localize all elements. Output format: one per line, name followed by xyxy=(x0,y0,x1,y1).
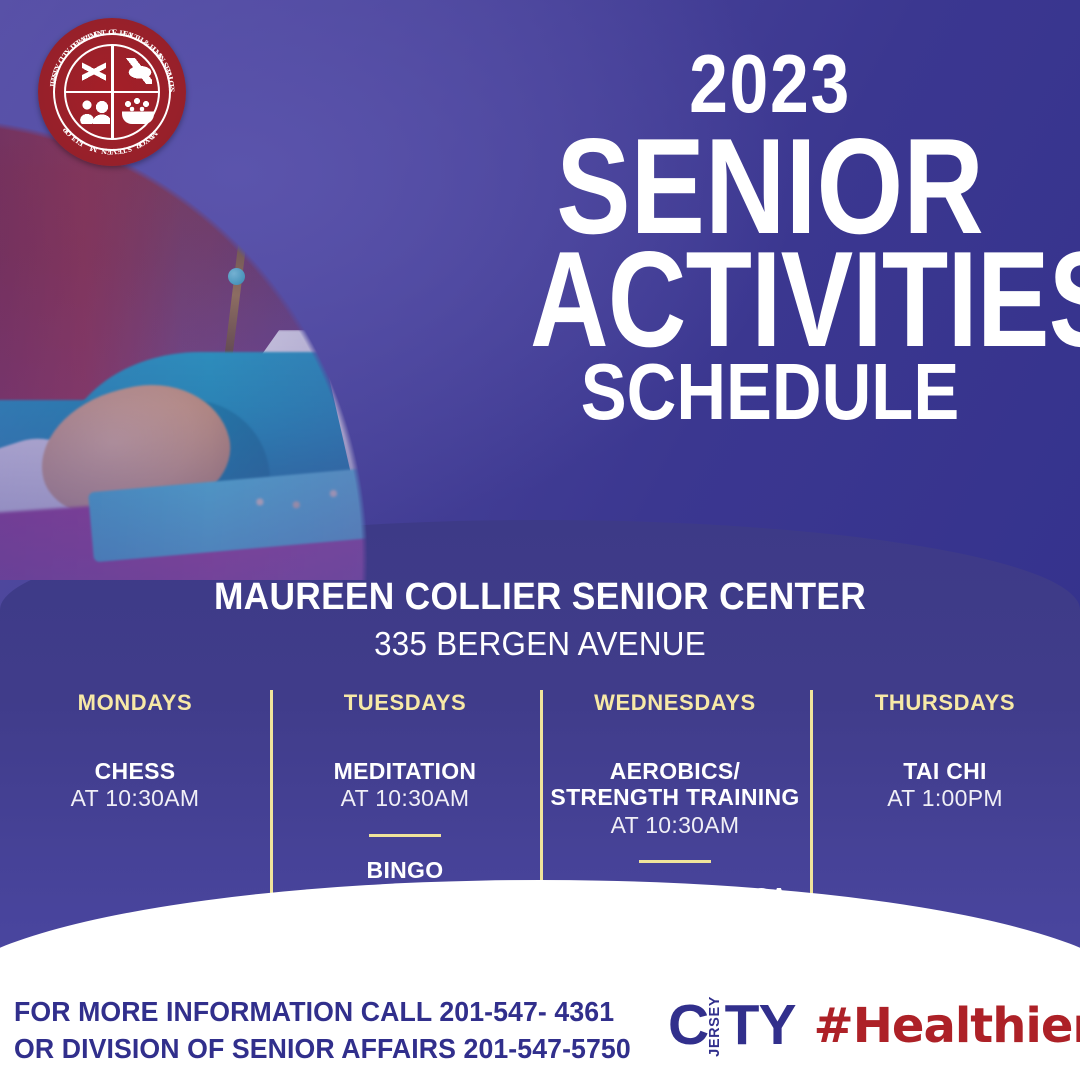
healthier-jc-hashtag: #HealthierJC xyxy=(814,1002,1080,1050)
activity-time: AT 10:30AM xyxy=(550,812,800,840)
venue-block: MAUREEN COLLIER SENIOR CENTER 335 BERGEN… xyxy=(0,576,1080,663)
activity-entry: TAI CHIAT 1:00PM xyxy=(820,758,1070,813)
dhhs-seal-logo: JERSEY CITY DEPARTMENT OF HEALTH & HUMAN… xyxy=(38,18,186,166)
footer-logo-row: C JERSEY TY #HealthierJC xyxy=(668,995,1068,1057)
venue-name: MAUREEN COLLIER SENIOR CENTER xyxy=(38,576,1042,619)
schedule-day-header: WEDNESDAYS xyxy=(550,690,800,716)
seal-outer-text-bottom: MAYOR STEVEN M. FULOP xyxy=(38,18,186,166)
activity-entry: AEROBICS/ STRENGTH TRAININGAT 10:30AM xyxy=(550,758,800,839)
venue-address: 335 BERGEN AVENUE xyxy=(27,625,1053,663)
schedule-day-header: THURSDAYS xyxy=(820,690,1070,716)
footer-contact-info: FOR MORE INFORMATION CALL 201-547- 4361 … xyxy=(14,994,635,1067)
activity-name: TAI CHI xyxy=(820,758,1070,784)
activity-name: MEDITATION xyxy=(280,758,530,784)
flyer-canvas: JERSEY CITY DEPARTMENT OF HEALTH & HUMAN… xyxy=(0,0,1080,1080)
activity-separator xyxy=(639,860,711,863)
activity-separator xyxy=(369,834,441,837)
activity-name: AEROBICS/ STRENGTH TRAINING xyxy=(550,758,800,811)
activity-entry: CHESSAT 10:30AM xyxy=(10,758,260,813)
title-activities: ACTIVITIES xyxy=(530,241,1010,358)
jc-logo-jersey: JERSEY xyxy=(708,996,723,1057)
footer-contact-line-1: FOR MORE INFORMATION CALL 201-547- 4361 xyxy=(14,994,635,1031)
jc-logo-c: C xyxy=(668,997,707,1054)
title-schedule: SCHEDULE xyxy=(512,356,1028,428)
title-block: 2023 SENIOR ACTIVITIES SCHEDULE xyxy=(470,46,1070,428)
schedule-day-header: TUESDAYS xyxy=(280,690,530,716)
activity-time: AT 1:00PM xyxy=(820,785,1070,813)
activity-entry: MEDITATIONAT 10:30AM xyxy=(280,758,530,813)
activity-time: AT 10:30AM xyxy=(280,785,530,813)
jc-logo-ty: TY xyxy=(725,997,796,1054)
jersey-city-logo: C JERSEY TY xyxy=(668,996,796,1057)
activity-time: AT 10:30AM xyxy=(10,785,260,813)
activity-name: CHESS xyxy=(10,758,260,784)
schedule-day-header: MONDAYS xyxy=(10,690,260,716)
footer-contact-line-2: OR DIVISION OF SENIOR AFFAIRS 201-547-57… xyxy=(14,1031,635,1068)
